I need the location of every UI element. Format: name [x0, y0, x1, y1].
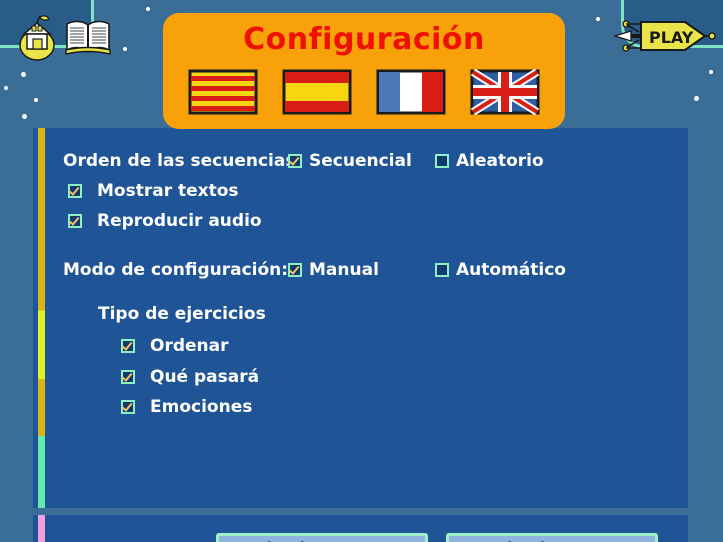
- checkbox-que-pasara[interactable]: [121, 370, 135, 384]
- level-panel-accent-bar: [38, 515, 45, 542]
- flag-french[interactable]: [376, 68, 446, 116]
- row-config-mode: Modo de configuración:: [63, 260, 288, 280]
- flag-catalan[interactable]: [188, 68, 258, 116]
- option-label-secuencial: Secuencial: [309, 151, 412, 171]
- sequence-order-label: Orden de las secuencias:: [63, 151, 302, 171]
- option-manual[interactable]: Manual: [288, 260, 379, 280]
- page-title: Configuración: [163, 22, 565, 57]
- checkbox-ordenar[interactable]: [121, 339, 135, 353]
- checkbox-aleatorio[interactable]: [435, 154, 449, 168]
- house-pear-icon[interactable]: [16, 14, 58, 62]
- star: [709, 70, 713, 74]
- app-window: PLAY Configuración: [0, 0, 723, 542]
- play-rocket-icon[interactable]: PLAY: [613, 14, 721, 58]
- config-mode-label: Modo de configuración:: [63, 260, 288, 280]
- level-panel: Nivel 1 Seleccionar grupo Deseleccionar …: [33, 515, 688, 542]
- play-label: PLAY: [649, 28, 694, 47]
- option-label-aleatorio: Aleatorio: [456, 151, 544, 171]
- checkbox-emociones[interactable]: [121, 400, 135, 414]
- select-group-button[interactable]: Seleccionar grupo: [216, 533, 428, 542]
- flag-spanish[interactable]: [282, 68, 352, 116]
- checkbox-mostrar-textos[interactable]: [68, 184, 82, 198]
- star: [4, 86, 8, 90]
- play-badge-group[interactable]: PLAY: [613, 14, 721, 62]
- checkbox-reproducir-audio[interactable]: [68, 214, 82, 228]
- option-aleatorio[interactable]: Aleatorio: [435, 151, 544, 171]
- option-label-emociones: Emociones: [150, 397, 252, 417]
- exercise-type-label: Tipo de ejercicios: [98, 304, 266, 324]
- option-label-que-pasara: Qué pasará: [150, 367, 259, 387]
- star: [22, 114, 27, 119]
- flag-english[interactable]: [470, 68, 540, 116]
- option-label-reproducir-audio: Reproducir audio: [97, 211, 262, 231]
- option-secuencial[interactable]: Secuencial: [288, 151, 412, 171]
- row-sequence-order: Orden de las secuencias:: [63, 151, 302, 171]
- exercise-type-heading: Tipo de ejercicios: [98, 304, 266, 324]
- option-automatico[interactable]: Automático: [435, 260, 566, 280]
- settings-panel: Orden de las secuencias: Secuencial Alea…: [33, 128, 688, 508]
- open-book-icon[interactable]: [64, 18, 112, 58]
- checkbox-manual[interactable]: [288, 263, 302, 277]
- home-icons-group: [16, 14, 112, 62]
- checkbox-automatico[interactable]: [435, 263, 449, 277]
- star: [34, 98, 38, 102]
- option-label-mostrar-textos: Mostrar textos: [97, 181, 239, 201]
- deselect-group-button[interactable]: Deseleccionar grupo: [446, 533, 658, 542]
- star: [21, 72, 26, 77]
- option-mostrar-textos[interactable]: Mostrar textos: [68, 181, 239, 201]
- option-reproducir-audio[interactable]: Reproducir audio: [68, 211, 262, 231]
- star: [146, 7, 150, 11]
- star: [694, 96, 699, 101]
- option-label-automatico: Automático: [456, 260, 566, 280]
- option-label-manual: Manual: [309, 260, 379, 280]
- option-ordenar[interactable]: Ordenar: [121, 336, 229, 356]
- settings-form: Orden de las secuencias: Secuencial Alea…: [33, 128, 688, 508]
- option-que-pasara[interactable]: Qué pasará: [121, 367, 259, 387]
- language-flag-row: [163, 68, 565, 116]
- checkbox-secuencial[interactable]: [288, 154, 302, 168]
- star: [123, 47, 127, 51]
- option-emociones[interactable]: Emociones: [121, 397, 252, 417]
- title-card: Configuración: [163, 13, 565, 129]
- star: [596, 17, 600, 21]
- option-label-ordenar: Ordenar: [150, 336, 229, 356]
